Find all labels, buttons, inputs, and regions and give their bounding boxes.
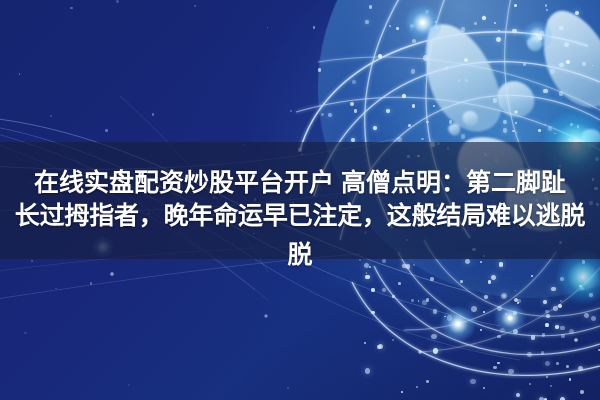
bright-node-glow [440,306,476,342]
caption-line-1: 在线实盘配资炒股平台开户 高僧点明：第二脚趾 [0,168,600,199]
bright-node-glow [522,20,552,50]
bright-node-glow [404,4,442,42]
caption-line-3: 脱 [0,240,600,271]
bright-node-glow [494,302,526,334]
caption-line-2: 长过拇指者，晚年命运早已注定，这般结局难以逃脱 [0,201,600,232]
banner-image: 在线实盘配资炒股平台开户 高僧点明：第二脚趾 长过拇指者，晚年命运早已注定，这般… [0,0,600,400]
